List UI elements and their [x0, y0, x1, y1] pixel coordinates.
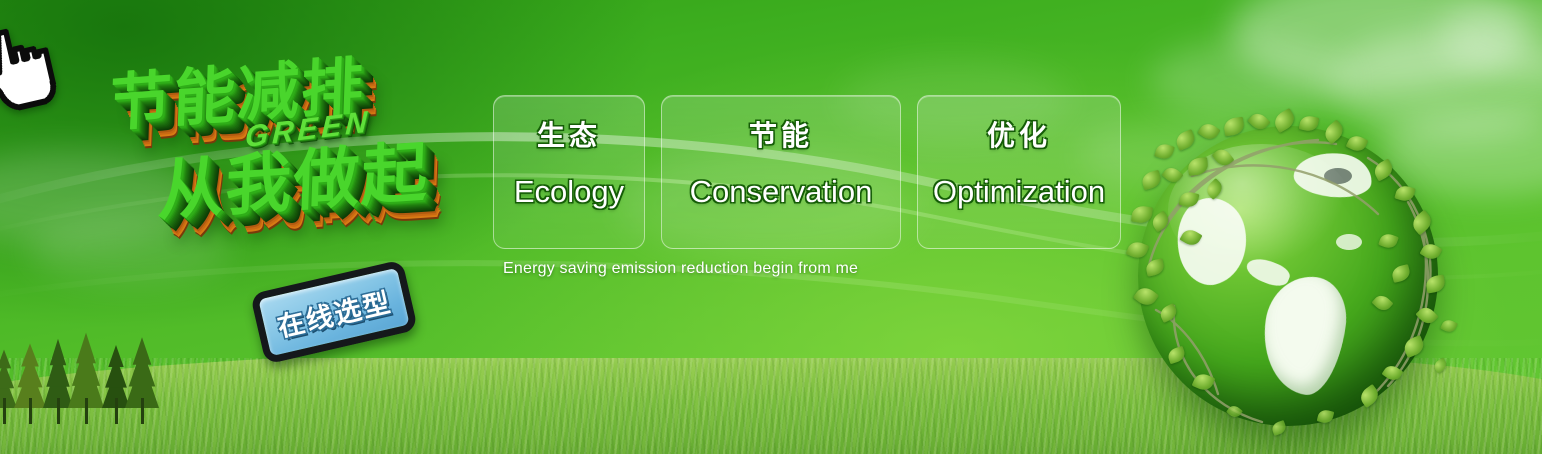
leaf-icon	[1140, 170, 1163, 191]
green-energy-banner: 节能减排 GREEN 从我做起 生态 Ecology 节能 Conservati…	[0, 0, 1542, 454]
feature-card-conservation[interactable]: 节能 Conservation	[661, 95, 901, 249]
feature-card-optimization[interactable]: 优化 Optimization	[917, 95, 1121, 249]
pointing-hand-cursor-icon	[0, 18, 71, 127]
continent-island	[1336, 234, 1362, 250]
pine-tree-cluster	[0, 320, 180, 424]
globe-sphere	[1138, 126, 1438, 426]
headline-3d: 节能减排 GREEN 从我做起	[88, 22, 503, 279]
online-selection-button[interactable]: 在线选型	[250, 259, 418, 364]
feature-card-title-cn: 节能	[749, 122, 813, 150]
continent-dark-patch	[1324, 168, 1352, 184]
cloud-icon	[1440, 0, 1542, 80]
cta-button-face[interactable]: 在线选型	[250, 259, 418, 364]
leafy-earth-globe-icon	[1138, 126, 1438, 426]
feature-card-ecology[interactable]: 生态 Ecology	[493, 95, 645, 249]
cloud-icon	[1150, 40, 1350, 120]
cloud-icon	[1330, 30, 1542, 140]
leaf-icon	[1154, 142, 1175, 162]
leaf-icon	[1197, 120, 1220, 143]
leaf-icon	[1174, 129, 1198, 151]
feature-card-title-cn: 生态	[537, 122, 601, 150]
feature-card-title-cn: 优化	[987, 122, 1051, 150]
feature-card-title-en: Optimization	[933, 176, 1105, 207]
leaf-icon	[1440, 318, 1458, 335]
continent-north-america	[1168, 191, 1257, 291]
headline-bottom-line: 从我做起	[156, 118, 431, 233]
cta-button-label: 在线选型	[273, 280, 395, 344]
feature-card-list: 生态 Ecology 节能 Conservation 优化 Optimizati…	[493, 95, 1121, 249]
feature-card-title-en: Ecology	[514, 176, 624, 207]
feature-card-title-en: Conservation	[690, 176, 873, 207]
tagline: Energy saving emission reduction begin f…	[503, 260, 858, 278]
cloud-icon	[1230, 0, 1530, 92]
continent-south-america	[1256, 271, 1352, 399]
